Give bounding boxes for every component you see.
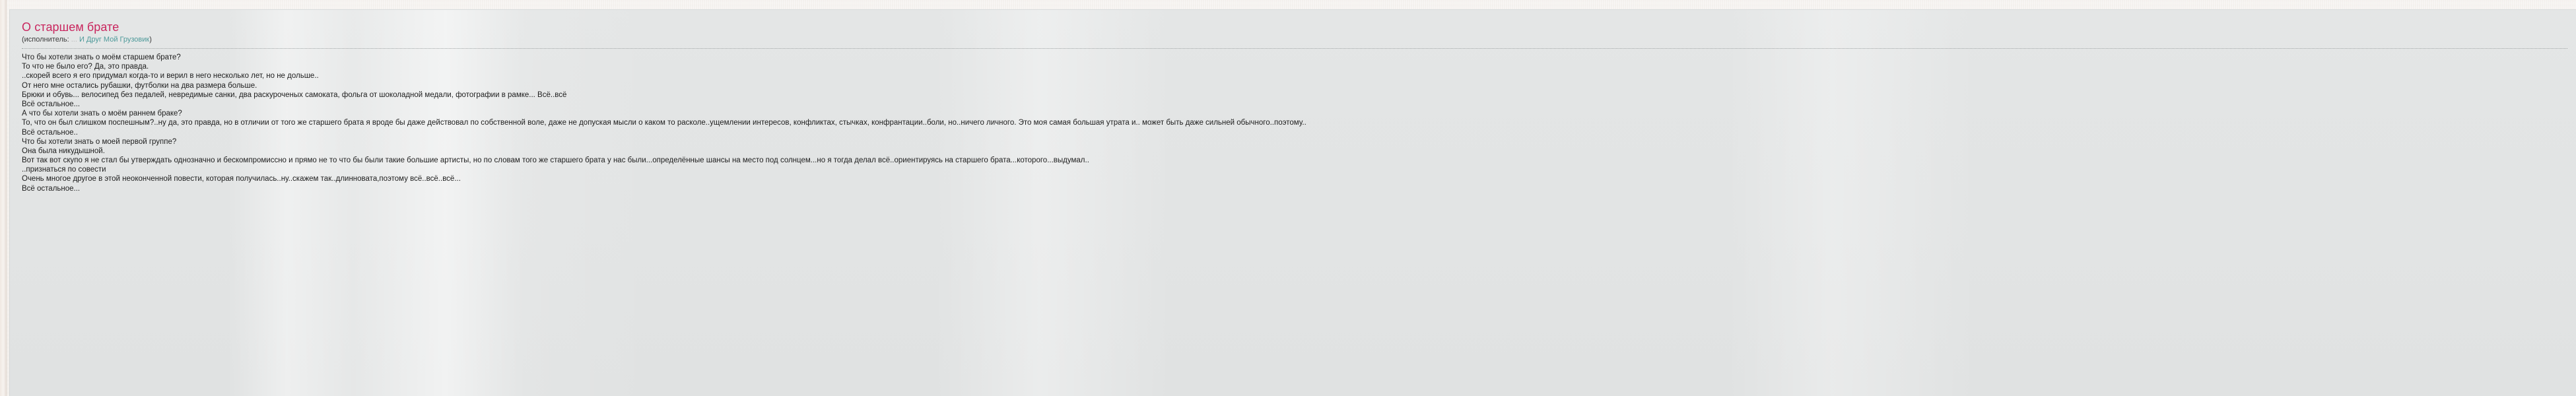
lyrics-panel-inner: О старшем брате (исполнитель: ... И Друг…: [10, 10, 2576, 193]
lyric-line: От него мне остались рубашки, футболки н…: [22, 81, 2576, 90]
lyric-line: Что бы хотели знать о моём старшем брате…: [22, 53, 2576, 62]
lyric-line: ..скорей всего я его придумал когда-то и…: [22, 71, 2576, 81]
lyric-line: То что не было его? Да, это правда.: [22, 62, 2576, 71]
page-left-edge: [0, 0, 7, 396]
lyric-line: А что бы хотели знать о моём раннем брак…: [22, 109, 2576, 118]
lyrics-panel: О старшем брате (исполнитель: ... И Друг…: [9, 9, 2576, 396]
lyric-line: Всё остальное..: [22, 128, 2576, 137]
lyric-line: Брюки и обувь... велосипед без педалей, …: [22, 90, 2576, 100]
lyric-line: Вот так вот скупо я не стал бы утверждат…: [22, 156, 2576, 165]
header-divider: [22, 48, 2567, 49]
lyric-line: Очень многое другое в этой неоконченной …: [22, 174, 2576, 183]
lyric-line: Что бы хотели знать о моей первой группе…: [22, 137, 2576, 147]
lyric-line: То, что он был слишком поспешным?..ну да…: [22, 118, 2576, 127]
lyric-line: Она была никудышной.: [22, 147, 2576, 156]
artist-ellipsis: ...: [71, 36, 77, 44]
lyric-line: Всё остальное...: [22, 184, 2576, 193]
lyric-line: ..признаться по совести: [22, 165, 2576, 174]
artist-link[interactable]: И Друг Мой Грузовик: [79, 36, 149, 44]
artist-label: (исполнитель:: [22, 36, 69, 44]
song-artist-line: (исполнитель: ... И Друг Мой Грузовик): [22, 35, 2576, 47]
lyric-line: Всё остальное...: [22, 100, 2576, 109]
artist-paren-close: ): [149, 36, 152, 44]
song-title: О старшем брате: [22, 20, 2576, 34]
lyrics-body: Что бы хотели знать о моём старшем брате…: [22, 53, 2576, 193]
